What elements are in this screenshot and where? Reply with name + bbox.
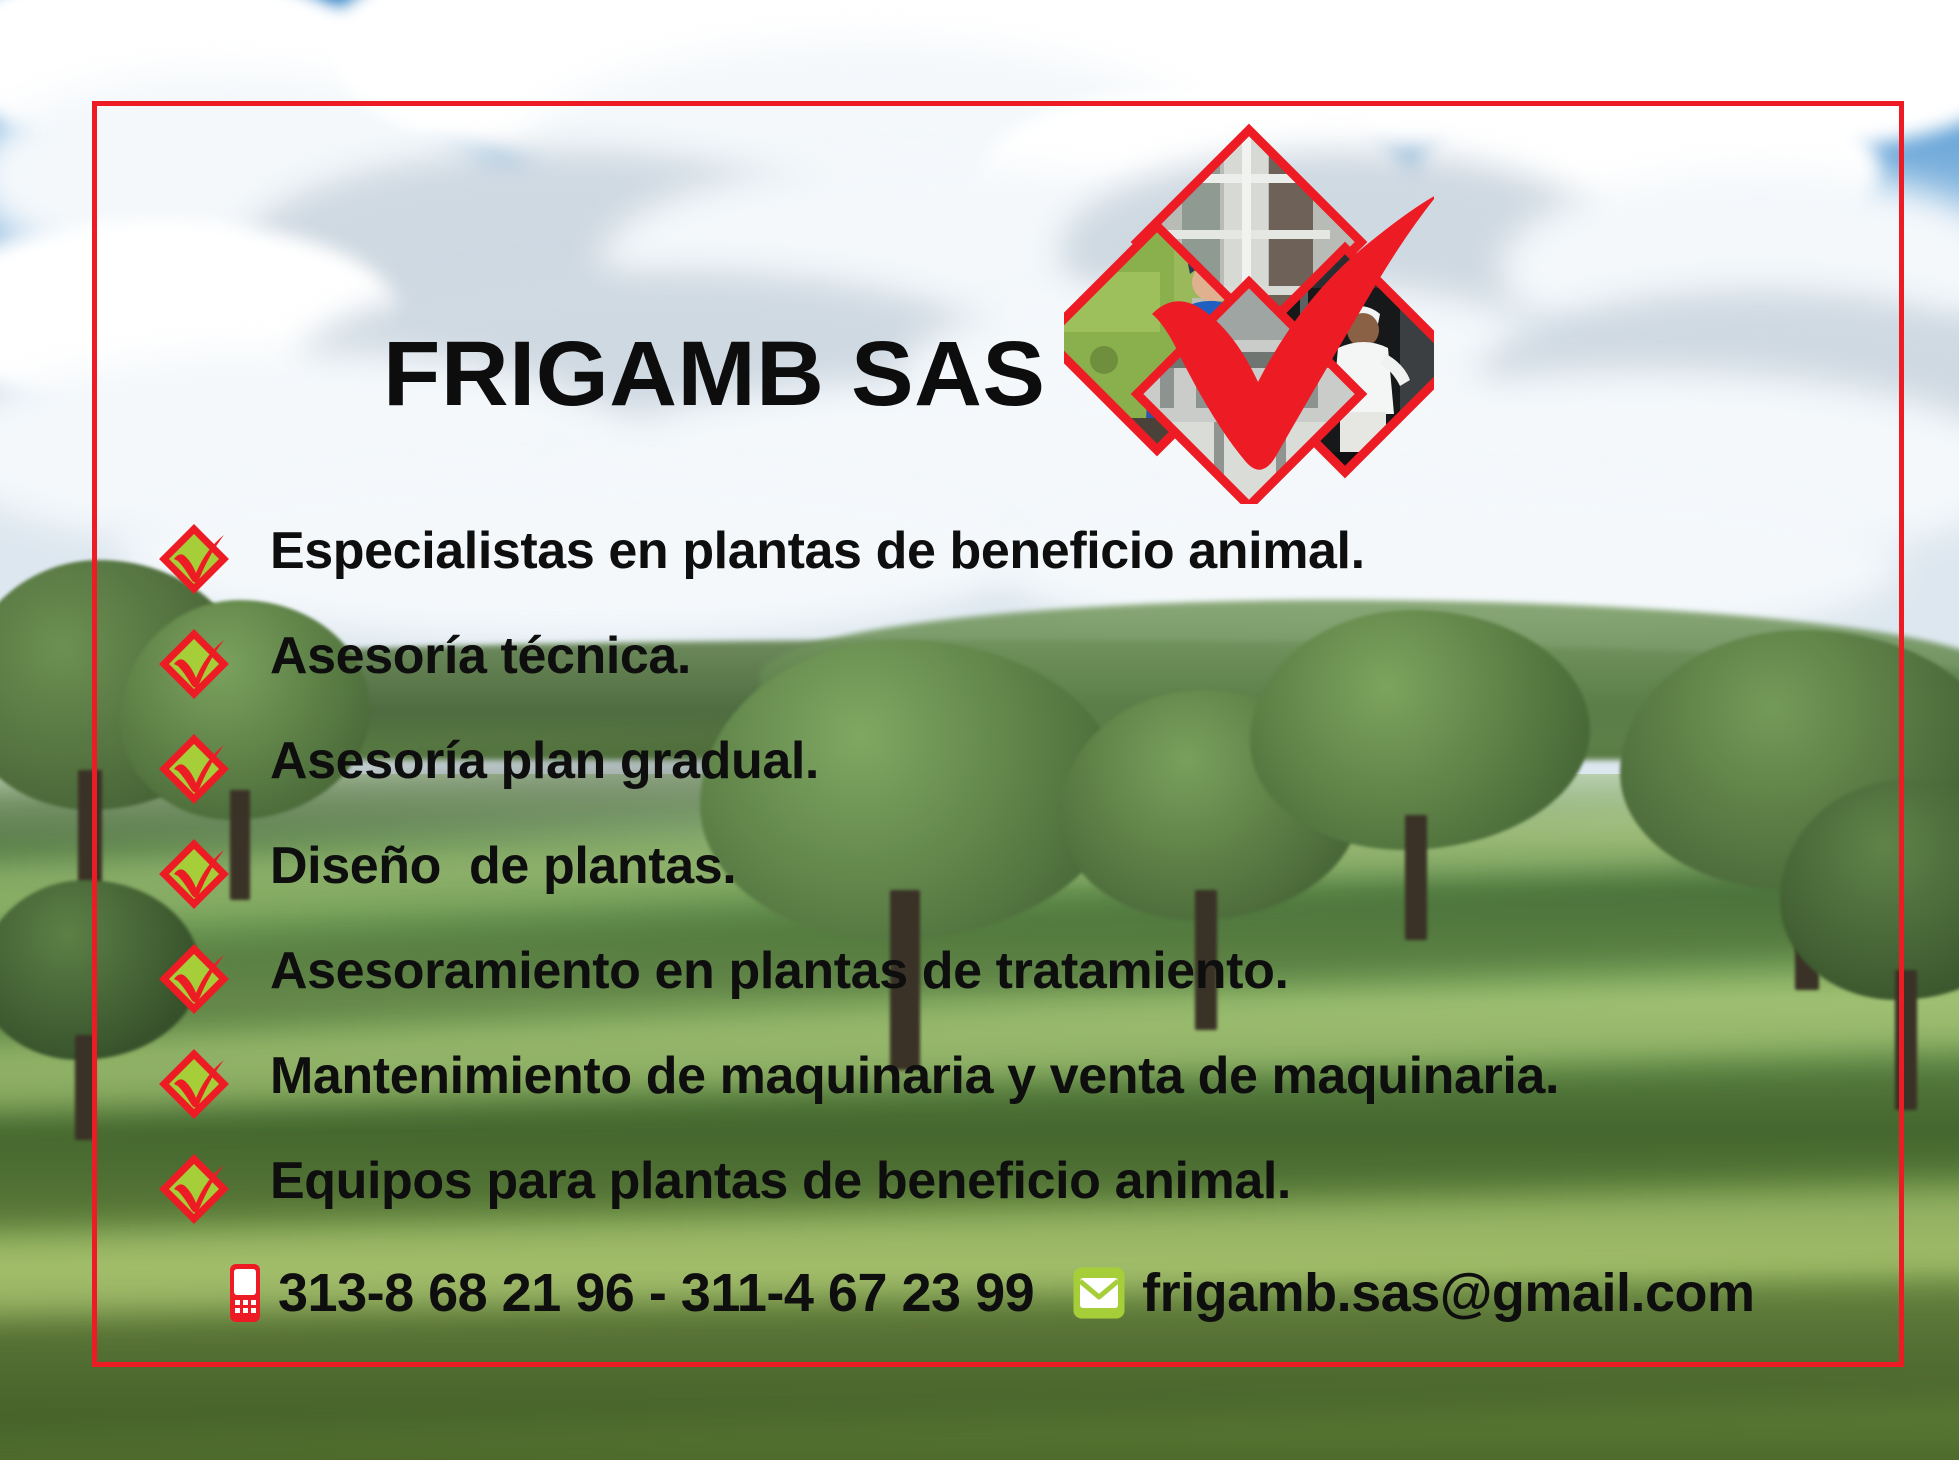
contact-row: 313-8 68 21 96 - 311-4 67 23 99 frigamb.… [228, 1262, 1755, 1324]
logo-svg [1064, 122, 1434, 504]
check-diamond-icon [158, 523, 230, 595]
list-item: Equipos para plantas de beneficio animal… [158, 1149, 1778, 1254]
check-diamond-icon [158, 838, 230, 910]
list-item-label: Diseño de plantas. [270, 836, 736, 896]
mobile-phone-icon [228, 1262, 262, 1324]
list-item: Asesoría plan gradual. [158, 729, 1778, 834]
list-item: Mantenimiento de maquinaria y venta de m… [158, 1044, 1778, 1149]
list-item-label: Asesoría técnica. [270, 626, 691, 686]
services-list: Especialistas en plantas de beneficio an… [158, 519, 1778, 1254]
list-item-label: Asesoramiento en plantas de tratamiento. [270, 941, 1289, 1001]
list-item: Asesoramiento en plantas de tratamiento. [158, 939, 1778, 1044]
list-item-label: Mantenimiento de maquinaria y venta de m… [270, 1046, 1559, 1106]
frigamb-diamond-logo [1064, 122, 1434, 504]
list-item-label: Asesoría plan gradual. [270, 731, 819, 791]
list-item-label: Especialistas en plantas de beneficio an… [270, 521, 1365, 581]
check-diamond-icon [158, 628, 230, 700]
envelope-icon [1072, 1266, 1126, 1320]
list-item: Asesoría técnica. [158, 624, 1778, 729]
email-address: frigamb.sas@gmail.com [1142, 1262, 1754, 1324]
page-title: FRIGAMB SAS [383, 322, 1045, 427]
list-item: Diseño de plantas. [158, 834, 1778, 939]
check-diamond-icon [158, 1153, 230, 1225]
phone-numbers: 313-8 68 21 96 - 311-4 67 23 99 [278, 1262, 1034, 1324]
list-item: Especialistas en plantas de beneficio an… [158, 519, 1778, 624]
list-item-label: Equipos para plantas de beneficio animal… [270, 1151, 1291, 1211]
check-diamond-icon [158, 943, 230, 1015]
check-diamond-icon [158, 1048, 230, 1120]
check-diamond-icon [158, 733, 230, 805]
